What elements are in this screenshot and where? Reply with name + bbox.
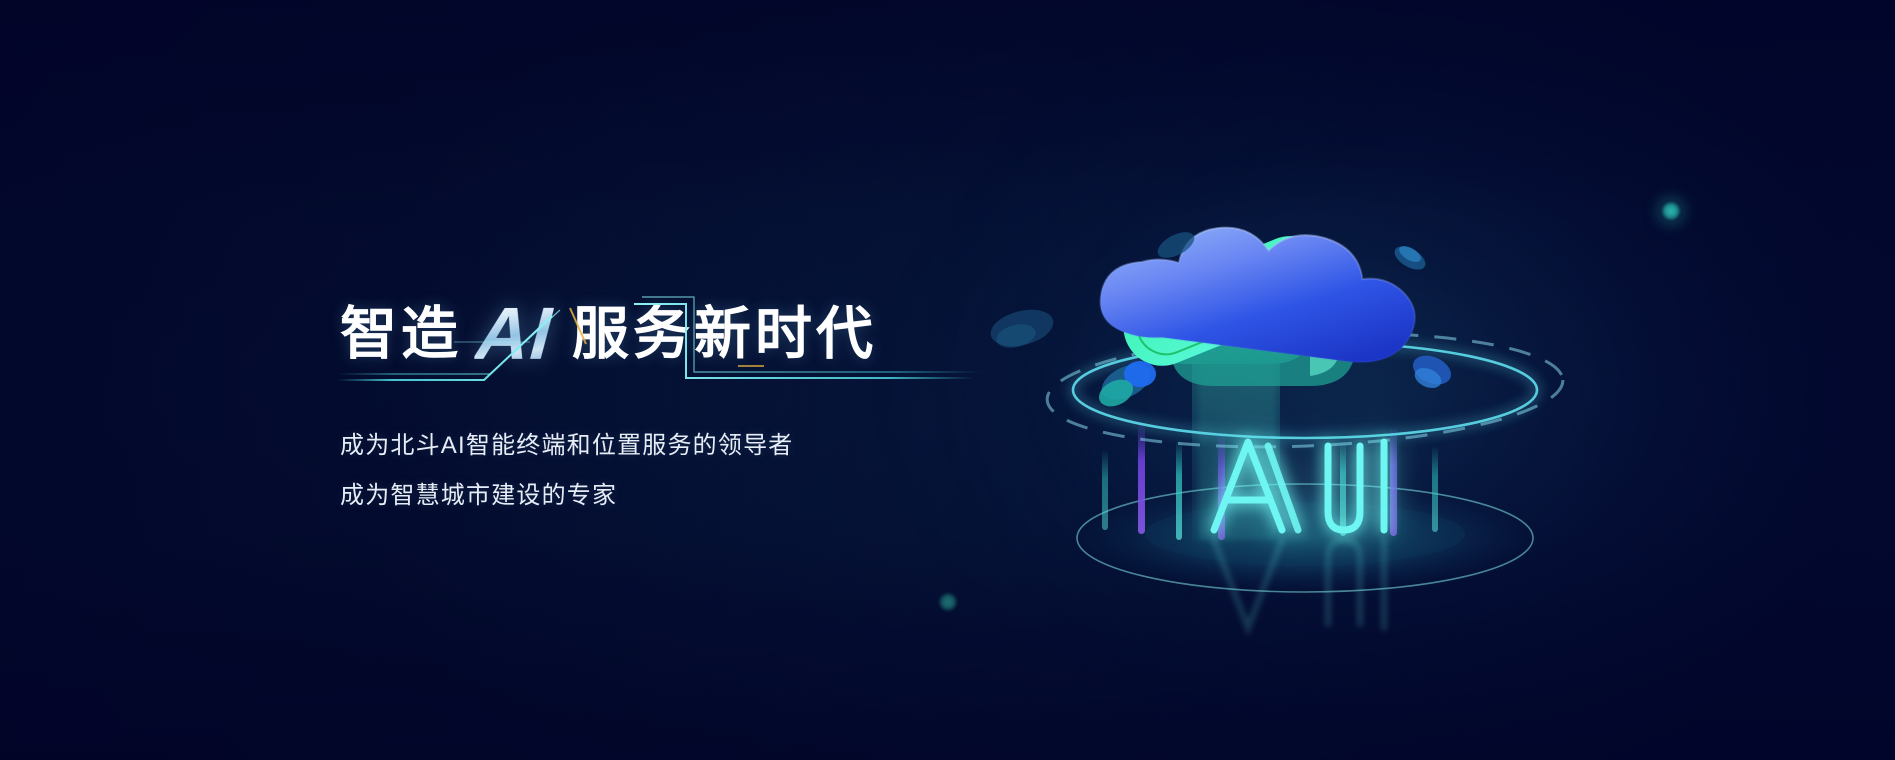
subtitle-line-2: 成为智慧城市建设的专家 (340, 484, 877, 508)
headline-left-text: 智造 (340, 306, 462, 363)
particle-dot-right (1660, 200, 1682, 222)
headline-right-text: 服务新时代 (572, 306, 877, 363)
subtitle-block: 成为北斗AI智能终端和位置服务的领导者 成为智慧城市建设的专家 (340, 434, 877, 508)
headline: 智造 AI 服务新时代 (340, 286, 877, 382)
headline-ai-emblem: AI (473, 297, 554, 371)
copy-block: 智造 AI 服务新时代 (340, 286, 877, 534)
banner-root: 智造 AI 服务新时代 (0, 0, 1895, 760)
subtitle-line-1: 成为北斗AI智能终端和位置服务的领导者 (340, 434, 877, 458)
illustration (980, 150, 1620, 610)
particle-dot-left (938, 592, 958, 612)
base-glow-disc (1077, 484, 1533, 592)
